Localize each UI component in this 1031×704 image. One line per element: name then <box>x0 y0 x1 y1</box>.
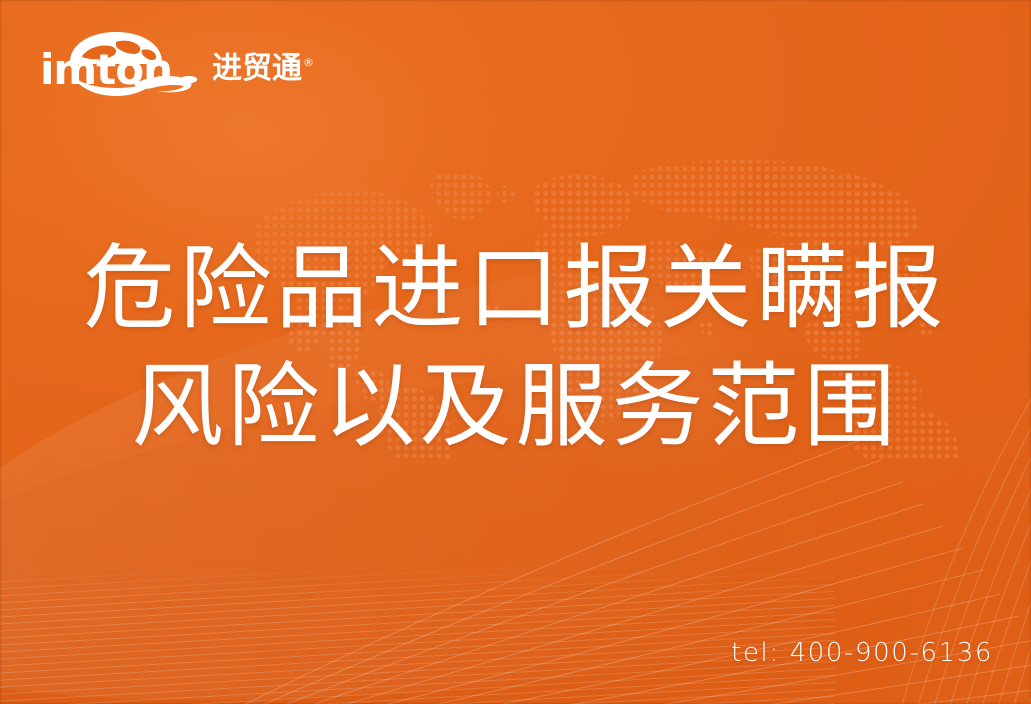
imton-globe-logo: imton <box>38 28 210 100</box>
banner-root: imton 进贸通® 危险品进口报关瞒报 风险以及服务范围 tel: 400-9… <box>0 0 1031 704</box>
registered-trademark-icon: ® <box>303 57 314 68</box>
logo-chinese-name: 进贸通® <box>212 54 313 100</box>
contact-telephone[interactable]: tel: 400-900-6136 <box>731 638 993 668</box>
logo-chinese-text: 进贸通 <box>212 54 302 84</box>
background-fill <box>0 0 1031 704</box>
svg-text:imton: imton <box>40 45 172 94</box>
brand-logo[interactable]: imton 进贸通® <box>38 28 313 100</box>
